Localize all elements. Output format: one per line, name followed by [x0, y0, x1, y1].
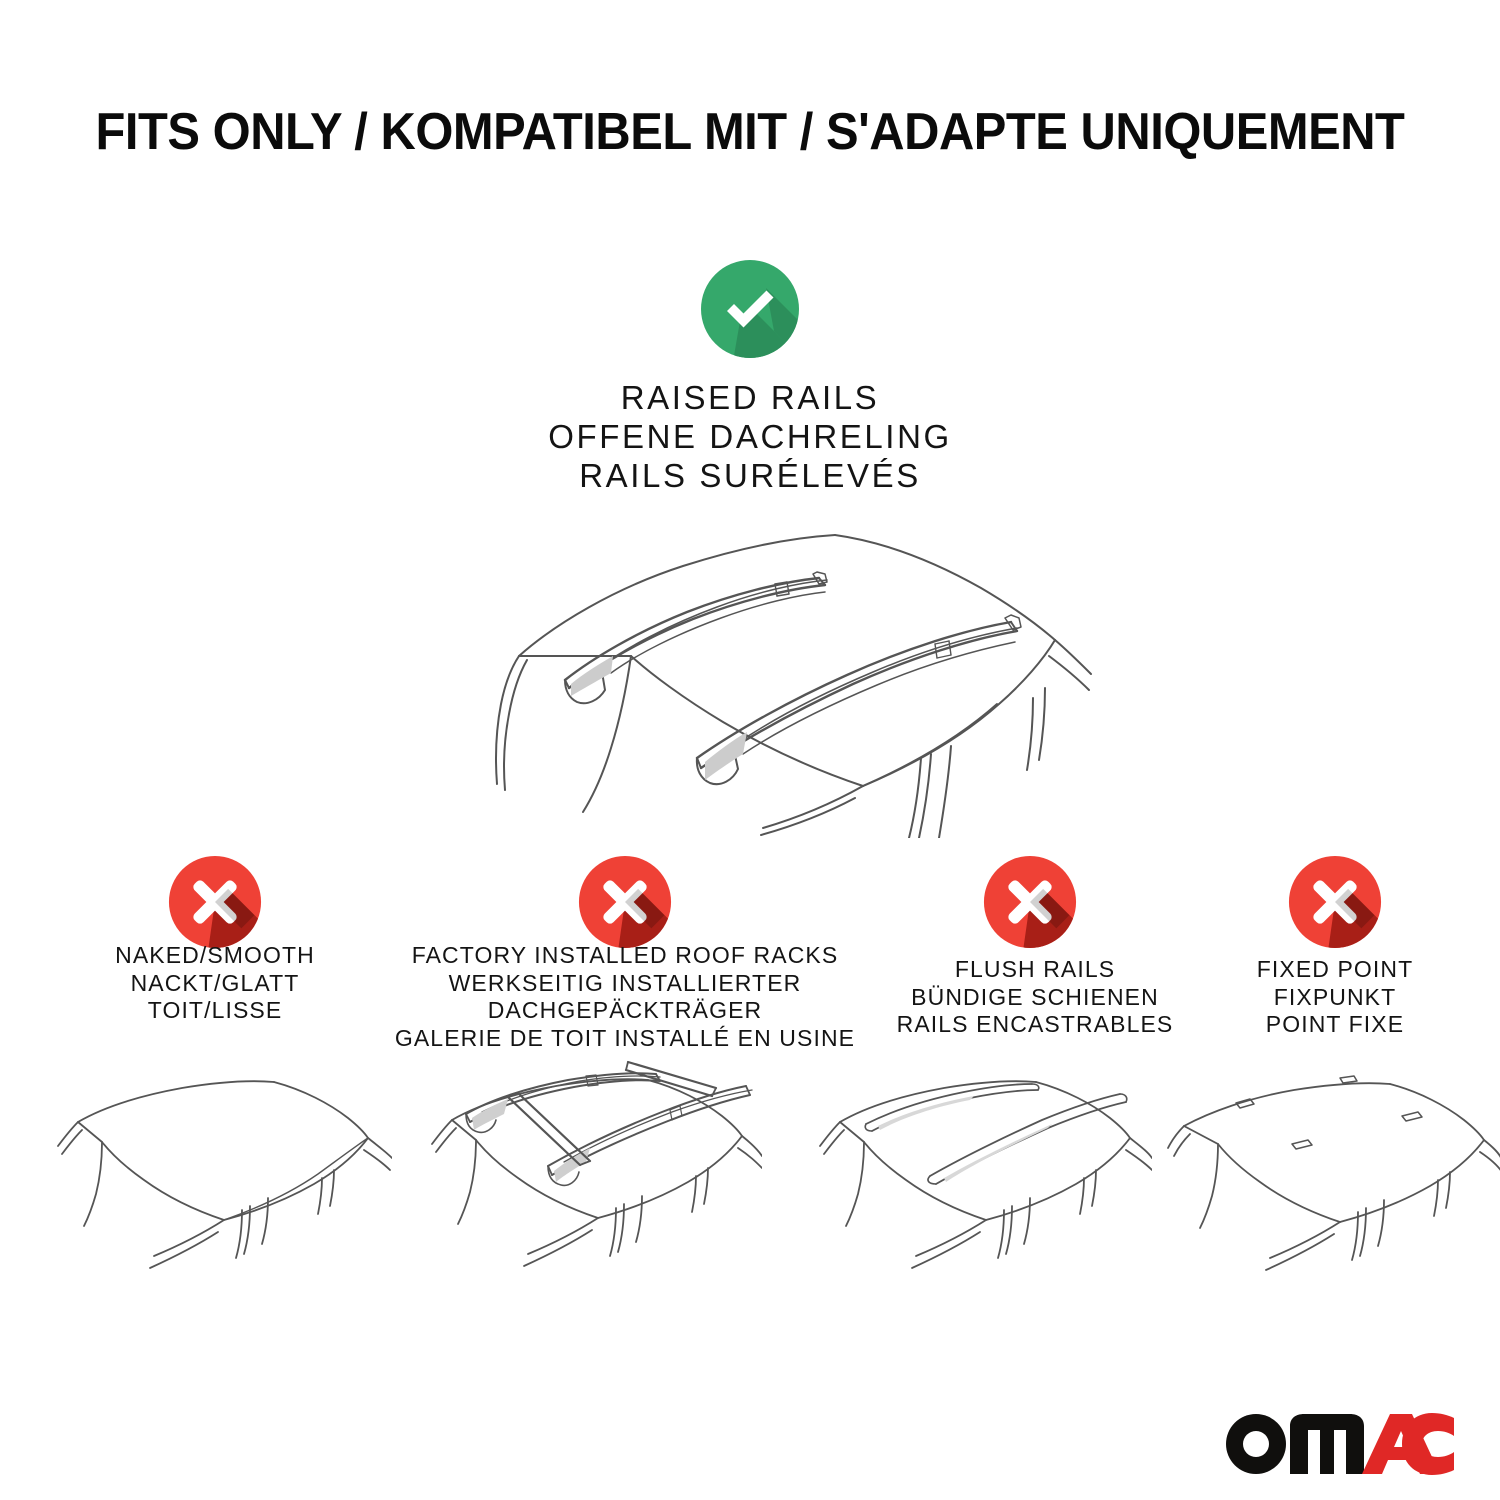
- naked-smooth-line-2: NACKT/GLATT: [20, 970, 410, 998]
- car-roof-raised-rails-illustration: [415, 508, 1105, 838]
- cross-circle-icon: [983, 855, 1077, 949]
- car-roof-flush-rails-illustration: [802, 1062, 1152, 1287]
- compatible-line-2: OFFENE DACHRELING: [0, 417, 1500, 456]
- cross-circle-icon: [168, 855, 262, 949]
- naked-smooth-line-3: TOIT/LISSE: [20, 997, 410, 1025]
- factory-racks-caption: FACTORY INSTALLED ROOF RACKS WERKSEITIG …: [385, 942, 865, 1052]
- factory-racks-line-3: DACHGEPÄCKTRÄGER: [385, 997, 865, 1025]
- omac-logo: [1222, 1404, 1454, 1478]
- flush-rails-line-1: FLUSH RAILS: [845, 956, 1225, 984]
- fixed-point-line-3: POINT FIXE: [1175, 1011, 1495, 1039]
- fixed-point-line-2: FIXPUNKT: [1175, 984, 1495, 1012]
- flush-rails-caption: FLUSH RAILS BÜNDIGE SCHIENEN RAILS ENCAS…: [845, 956, 1225, 1039]
- compatible-line-3: RAILS SURÉLEVÉS: [0, 456, 1500, 495]
- car-roof-fixed-point-illustration: [1162, 1062, 1500, 1287]
- check-circle-icon: [700, 259, 800, 359]
- car-roof-factory-racks-illustration: [412, 1058, 762, 1288]
- fitment-infographic: FITS ONLY / KOMPATIBEL MIT / S'ADAPTE UN…: [0, 0, 1500, 1500]
- factory-racks-line-2: WERKSEITIG INSTALLIERTER: [385, 970, 865, 998]
- page-title: FITS ONLY / KOMPATIBEL MIT / S'ADAPTE UN…: [45, 106, 1455, 158]
- fixed-point-caption: FIXED POINT FIXPUNKT POINT FIXE: [1175, 956, 1495, 1039]
- flush-rails-line-3: RAILS ENCASTRABLES: [845, 1011, 1225, 1039]
- flush-rails-line-2: BÜNDIGE SCHIENEN: [845, 984, 1225, 1012]
- compatible-caption: RAISED RAILS OFFENE DACHRELING RAILS SUR…: [0, 378, 1500, 495]
- compatible-line-1: RAISED RAILS: [0, 378, 1500, 417]
- factory-racks-line-4: GALERIE DE TOIT INSTALLÉ EN USINE: [385, 1025, 865, 1053]
- cross-circle-icon: [578, 855, 672, 949]
- fixed-point-line-1: FIXED POINT: [1175, 956, 1495, 984]
- cross-circle-icon: [1288, 855, 1382, 949]
- naked-smooth-line-1: NAKED/SMOOTH: [20, 942, 410, 970]
- car-roof-naked-smooth-illustration: [42, 1062, 392, 1287]
- factory-racks-line-1: FACTORY INSTALLED ROOF RACKS: [385, 942, 865, 970]
- naked-smooth-caption: NAKED/SMOOTH NACKT/GLATT TOIT/LISSE: [20, 942, 410, 1025]
